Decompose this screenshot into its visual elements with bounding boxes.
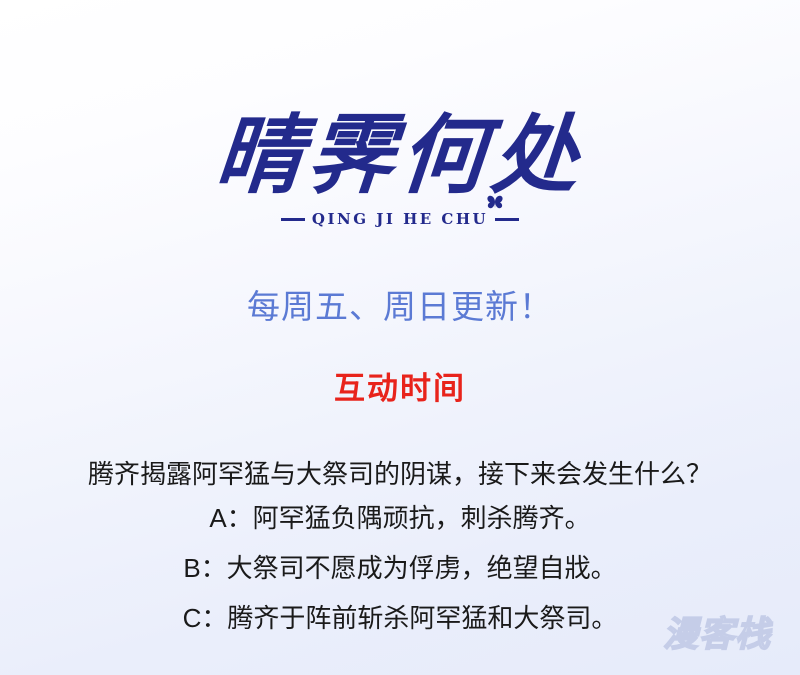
series-title-pinyin-row: QING JI HE CHU (0, 210, 800, 228)
update-schedule-text: 每周五、周日更新！ (0, 286, 800, 328)
series-title-calligraphy: 晴霁何处 (0, 104, 800, 208)
site-watermark: 漫客栈 (663, 613, 771, 657)
answer-option-a[interactable]: A：阿罕猛负隅顽抗，刺杀腾齐。 (0, 493, 800, 543)
comic-interaction-page: 晴霁何处 QING JI HE CHU 每周五、周日更新！ 互动时间 腾齐揭露阿… (0, 0, 800, 675)
series-title-pinyin: QING JI HE CHU (312, 210, 488, 228)
interaction-time-heading: 互动时间 (0, 369, 800, 409)
question-text: 腾齐揭露阿罕猛与大祭司的阴谋，接下来会发生什么？ (0, 455, 800, 493)
pinyin-rule-left (281, 218, 305, 221)
series-title-logo: 晴霁何处 QING JI HE CHU (0, 104, 800, 228)
butterfly-icon (486, 194, 504, 210)
answer-option-b[interactable]: B：大祭司不愿成为俘虏，绝望自戕。 (0, 543, 800, 593)
pinyin-rule-right (495, 218, 519, 221)
